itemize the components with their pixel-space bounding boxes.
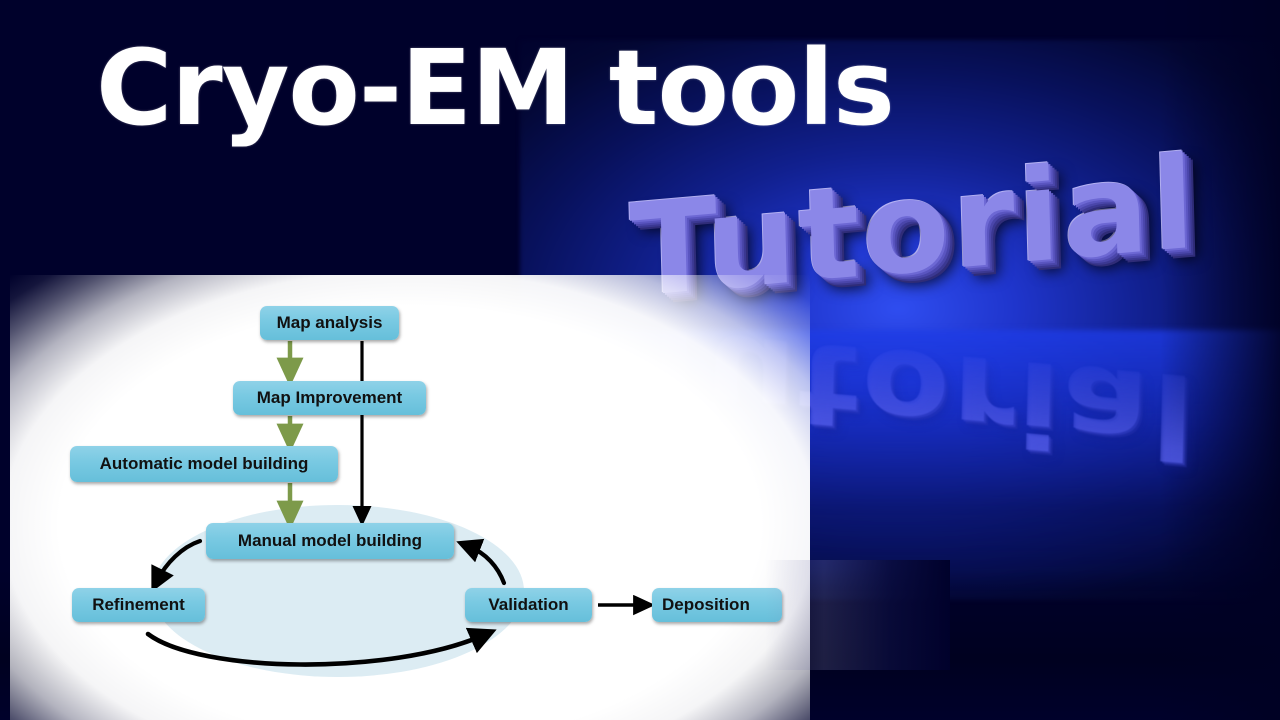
cryo-em-workflow-diagram: Map analysis Map Improvement Automatic m… <box>0 0 1280 720</box>
node-label: Manual model building <box>238 531 422 551</box>
node-label: Map Improvement <box>257 388 402 408</box>
node-label: Map analysis <box>277 313 383 333</box>
node-refinement[interactable]: Refinement <box>72 588 205 622</box>
node-label: Refinement <box>92 595 185 615</box>
node-label: Automatic model building <box>100 454 309 474</box>
node-map-analysis[interactable]: Map analysis <box>260 306 399 340</box>
node-map-improvement[interactable]: Map Improvement <box>233 381 426 415</box>
slide-canvas: Tutorial Tutorial Cryo-EM tools <box>0 0 1280 720</box>
node-label: Validation <box>488 595 568 615</box>
node-manual-model-building[interactable]: Manual model building <box>206 523 454 559</box>
node-label: Deposition <box>662 595 750 615</box>
node-deposition[interactable]: Deposition <box>652 588 782 622</box>
node-validation[interactable]: Validation <box>465 588 592 622</box>
node-automatic-model-building[interactable]: Automatic model building <box>70 446 338 482</box>
